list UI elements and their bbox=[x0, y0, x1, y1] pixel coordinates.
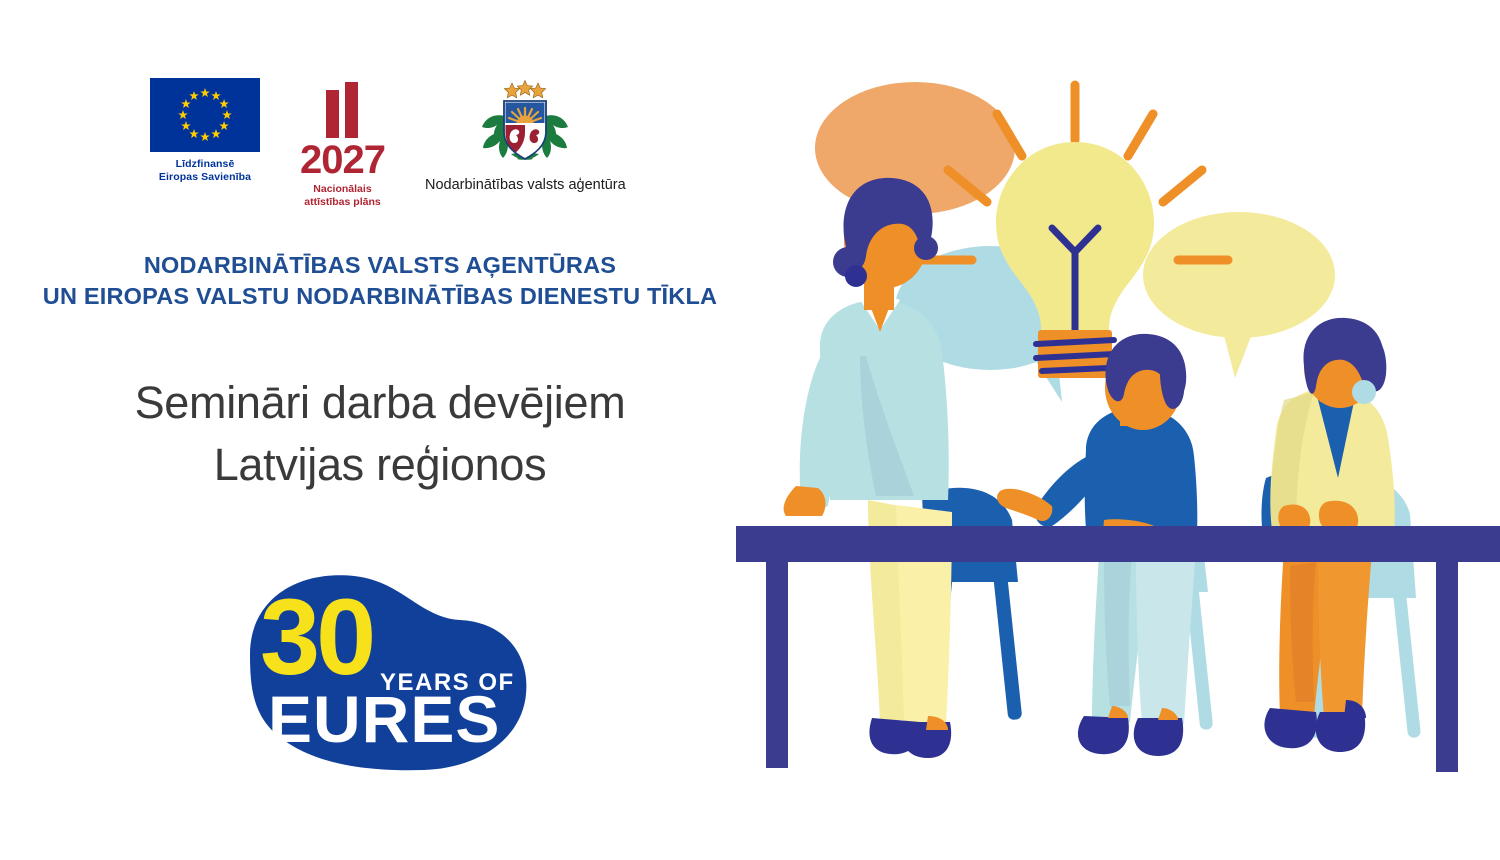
headline-line-2: Latvijas reģionos bbox=[0, 434, 760, 496]
nap-logo-caption: Nacionālais attīstības plāns bbox=[304, 183, 380, 209]
nva-logo-caption: Nodarbinātības valsts aģentūra bbox=[425, 177, 626, 193]
subtitle-line-1: NODARBINĀTĪBAS VALSTS AĢENTŪRAS bbox=[0, 250, 760, 281]
eures-number-30: 30 bbox=[260, 576, 372, 697]
headline-line-1: Semināri darba devējiem bbox=[0, 372, 760, 434]
earring-left bbox=[845, 265, 867, 287]
eures-30-years-logo: 30 YEARS OF EURES bbox=[232, 562, 532, 774]
nap-bars-icon bbox=[326, 82, 358, 138]
eu-logo-caption: Līdzfinansē Eiropas Savienība bbox=[159, 158, 251, 184]
poster-canvas: Līdzfinansē Eiropas Savienība 2027 Nacio… bbox=[0, 0, 1500, 860]
table-top bbox=[736, 526, 1500, 562]
funding-logo-strip: Līdzfinansē Eiropas Savienība 2027 Nacio… bbox=[150, 78, 626, 209]
nap-year-label: 2027 bbox=[300, 140, 385, 180]
nap-logo-block: 2027 Nacionālais attīstības plāns bbox=[300, 78, 385, 209]
table-leg-right bbox=[1436, 556, 1458, 772]
left-content-column: Līdzfinansē Eiropas Savienība 2027 Nacio… bbox=[0, 0, 760, 860]
organisation-subtitle: NODARBINĀTĪBAS VALSTS AĢENTŪRAS UN EIROP… bbox=[0, 250, 760, 312]
subtitle-line-2: UN EIROPAS VALSTU NODARBINĀTĪBAS DIENEST… bbox=[0, 281, 760, 312]
latvia-coat-of-arms-icon bbox=[471, 80, 579, 171]
eu-logo-block: Līdzfinansē Eiropas Savienība bbox=[150, 78, 260, 184]
european-union-flag-icon bbox=[150, 78, 260, 152]
nva-logo-block: Nodarbinātības valsts aģentūra bbox=[425, 78, 626, 193]
meeting-at-table-illustration bbox=[700, 0, 1500, 860]
page-title: Semināri darba devējiem Latvijas reģiono… bbox=[0, 372, 760, 496]
eures-number-text: 30 bbox=[260, 576, 372, 697]
hand-on-table bbox=[784, 486, 826, 516]
earring-right bbox=[1352, 380, 1376, 404]
eures-brand-text: EURES bbox=[268, 682, 500, 756]
table-leg-left bbox=[766, 556, 788, 768]
